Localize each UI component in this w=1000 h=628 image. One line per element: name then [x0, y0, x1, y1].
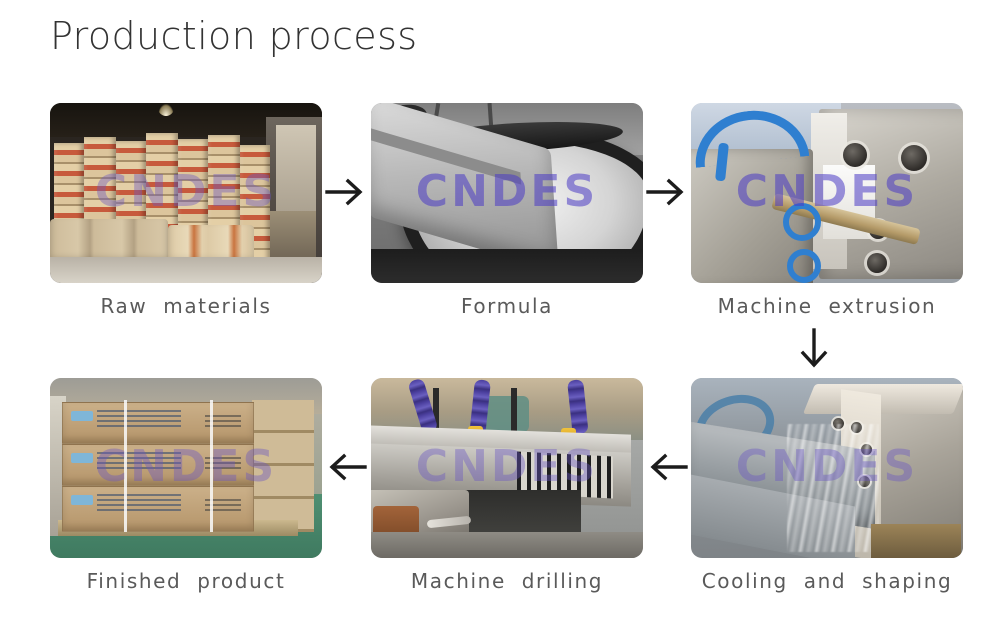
photo-machine-drilling[interactable]: CNDES — [371, 378, 643, 558]
carton-side-stack — [252, 400, 314, 532]
carton-box — [62, 486, 254, 532]
die-bore — [901, 145, 927, 171]
photo-finished-product[interactable]: CNDES — [50, 378, 322, 558]
photo-raw-materials[interactable]: CNDES — [50, 103, 322, 283]
carton-box — [62, 402, 254, 444]
packing-strap — [124, 400, 127, 532]
arrow-left-icon — [325, 450, 367, 484]
hose-fitting — [787, 249, 821, 283]
photo-formula[interactable]: CNDES — [371, 103, 643, 283]
carton-printed-text — [97, 494, 181, 514]
arrow-left-icon — [646, 450, 688, 484]
floor-debris — [871, 524, 961, 558]
step-caption: Machine extrusion — [691, 294, 963, 318]
step-caption: Raw materials — [50, 294, 322, 318]
step-raw-materials[interactable]: CNDES Raw materials — [50, 103, 322, 318]
die-bore — [843, 143, 867, 167]
packing-strap — [210, 400, 213, 532]
die-bore — [867, 253, 887, 273]
arrow-right-icon — [646, 175, 688, 209]
carton-box — [62, 444, 254, 486]
pan-base — [371, 249, 643, 283]
carton-blue-label — [71, 453, 93, 463]
step-caption: Finished product — [50, 569, 322, 593]
step-caption: Machine drilling — [371, 569, 643, 593]
step-machine-extrusion[interactable]: CNDES Machine extrusion — [691, 103, 963, 318]
step-caption: Formula — [371, 294, 643, 318]
cooling-tank-top — [803, 384, 963, 414]
warehouse-crate — [270, 211, 316, 261]
photo-cooling-and-shaping[interactable]: CNDES — [691, 378, 963, 558]
carton-blue-label — [71, 411, 93, 421]
step-formula[interactable]: CNDES Formula — [371, 103, 643, 318]
hose-fitting — [783, 203, 821, 241]
water-spray — [787, 424, 879, 552]
carton-printed-text — [97, 410, 181, 430]
arrow-right-icon — [325, 175, 367, 209]
warehouse-floor — [50, 257, 322, 283]
carton-printed-text — [97, 452, 181, 472]
step-cooling-and-shaping[interactable]: CNDES Cooling and shaping — [691, 378, 963, 593]
machine-base — [371, 532, 643, 558]
page-title: Production process — [50, 14, 417, 58]
carton-blue-label — [71, 495, 93, 505]
photo-machine-extrusion[interactable]: CNDES — [691, 103, 963, 283]
step-machine-drilling[interactable]: CNDES Machine drilling — [371, 378, 643, 593]
arrow-down-icon — [797, 328, 831, 372]
step-finished-product[interactable]: CNDES Finished product — [50, 378, 322, 593]
warehouse-door — [276, 125, 316, 223]
step-caption: Cooling and shaping — [691, 569, 963, 593]
